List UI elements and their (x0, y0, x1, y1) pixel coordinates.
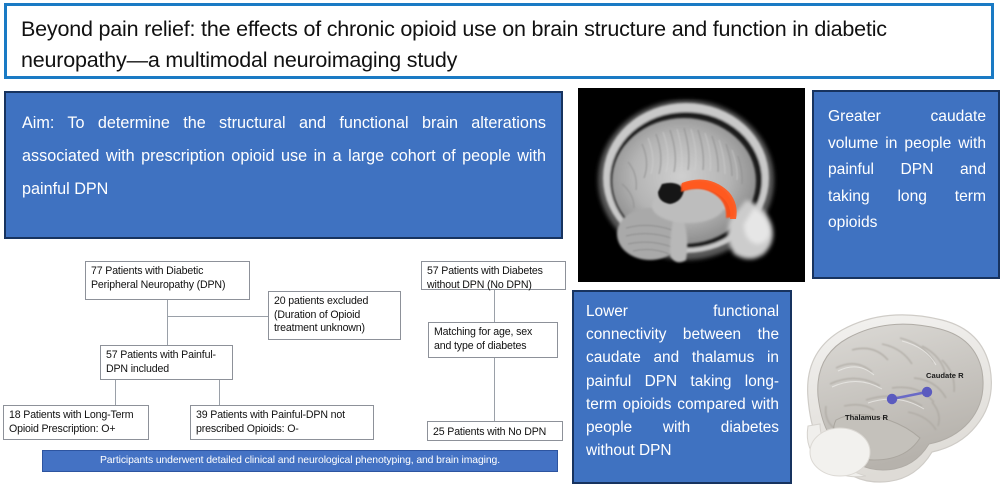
connector-matching-to-final (494, 357, 495, 421)
finding-lower-connectivity-panel: Lower functional connectivity between th… (572, 290, 792, 484)
flow-box-matching-text: Matching for age, sex and type of diabet… (434, 326, 532, 352)
title-box: Beyond pain relief: the effects of chron… (4, 3, 994, 79)
flow-box-no-dpn-cohort-text: 57 Patients with Diabetes without DPN (N… (427, 265, 543, 291)
flow-box-no-opioid-text: 39 Patients with Painful-DPN not prescri… (196, 409, 345, 435)
connector-included-to-opioidplus (115, 380, 116, 405)
connector-dpn-to-excluded (167, 316, 268, 317)
caudate-node (922, 387, 932, 397)
graphical-abstract: Beyond pain relief: the effects of chron… (0, 0, 1000, 486)
mri-svg (578, 88, 805, 282)
connector-nodpn-to-matching (494, 289, 495, 322)
connector-dpn-to-included (167, 300, 168, 346)
phenotyping-banner: Participants underwent detailed clinical… (42, 450, 558, 472)
aim-panel: Aim: To determine the structural and fun… (4, 91, 563, 239)
brain-render-svg: Caudate R Thalamus R (796, 302, 1000, 486)
flow-box-excluded-text: 20 patients excluded (Duration of Opioid… (274, 295, 368, 334)
flow-box-no-opioid: 39 Patients with Painful-DPN not prescri… (190, 405, 374, 440)
flow-box-no-dpn-final-text: 25 Patients with No DPN (433, 426, 546, 438)
caudate-label: Caudate R (926, 371, 964, 380)
sagittal-mri-image (578, 88, 805, 282)
flow-box-matching: Matching for age, sex and type of diabet… (428, 322, 558, 358)
finding-greater-caudate-panel: Greater caudate volume in people with pa… (812, 90, 1000, 279)
finding-lower-connectivity-text: Lower functional connectivity between th… (586, 300, 779, 462)
aim-text: Aim: To determine the structural and fun… (22, 107, 546, 206)
flow-box-dpn-cohort-text: 77 Patients with Diabetic Peripheral Neu… (91, 265, 225, 291)
finding-greater-caudate-text: Greater caudate volume in people with pa… (828, 104, 986, 237)
thalamus-label: Thalamus R (845, 413, 889, 422)
flow-box-painful-dpn-included-text: 57 Patients with Painful-DPN included (106, 349, 216, 375)
flow-box-painful-dpn-included: 57 Patients with Painful-DPN included (100, 345, 233, 380)
connector-included-to-opioidminus (219, 380, 220, 405)
phenotyping-banner-text: Participants underwent detailed clinical… (100, 455, 500, 466)
flow-box-dpn-cohort: 77 Patients with Diabetic Peripheral Neu… (85, 261, 250, 300)
page-title: Beyond pain relief: the effects of chron… (21, 14, 979, 76)
flow-box-no-dpn-final: 25 Patients with No DPN (427, 421, 563, 441)
flow-box-long-term-opioid-text: 18 Patients with Long-Term Opioid Prescr… (9, 409, 133, 435)
flow-box-no-dpn-cohort: 57 Patients with Diabetes without DPN (N… (421, 261, 566, 290)
thalamus-node (887, 394, 897, 404)
flow-box-excluded: 20 patients excluded (Duration of Opioid… (268, 291, 401, 340)
brain-connectivity-render: Caudate R Thalamus R (796, 302, 1000, 486)
flow-box-long-term-opioid: 18 Patients with Long-Term Opioid Prescr… (3, 405, 149, 440)
